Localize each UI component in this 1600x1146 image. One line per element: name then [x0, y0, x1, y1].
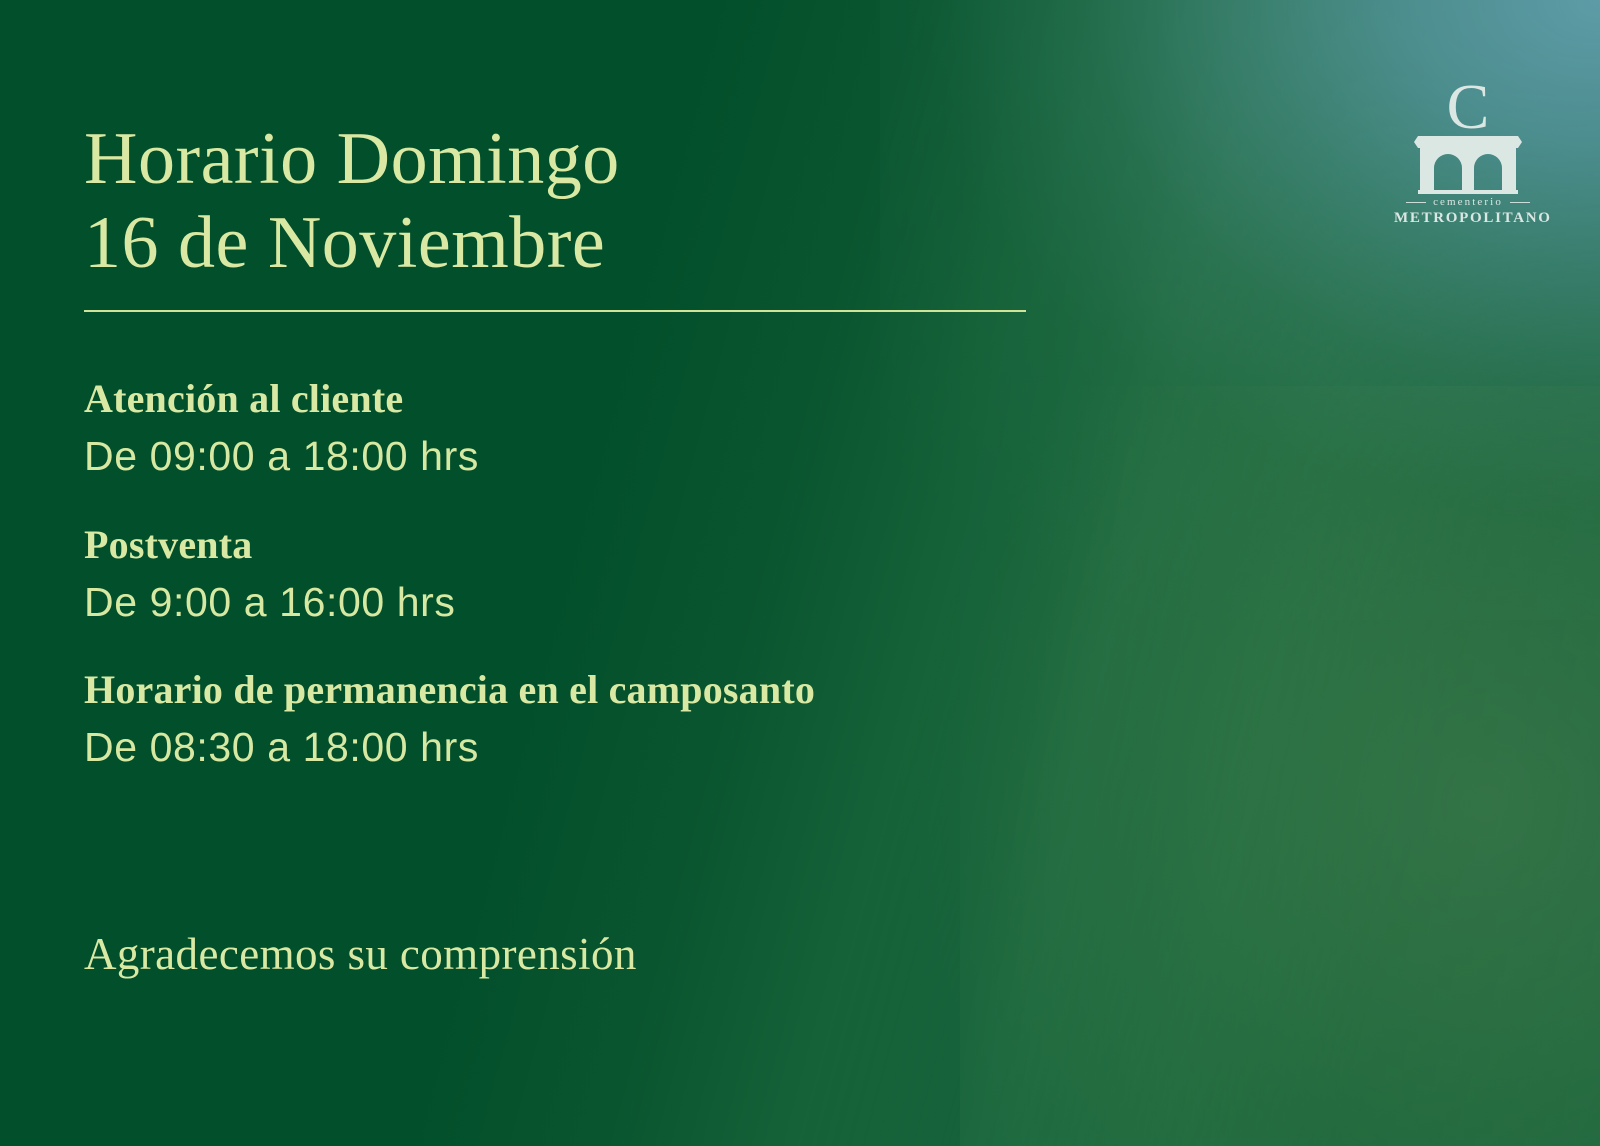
- poster-canvas: C cementerio METROPOLITANO Horario Domin…: [0, 0, 1600, 1146]
- page-title-line-1: Horario Domingo: [84, 118, 620, 200]
- schedule-item-hours: De 9:00 a 16:00 hrs: [84, 578, 1044, 626]
- schedule-item: Horario de permanencia en el camposanto …: [84, 666, 1044, 772]
- logo-word-top: cementerio: [1433, 196, 1503, 208]
- schedule-list: Atención al cliente De 09:00 a 18:00 hrs…: [84, 375, 1044, 772]
- page-title-line-2: 16 de Noviembre: [84, 202, 605, 284]
- schedule-item-hours: De 08:30 a 18:00 hrs: [84, 723, 1044, 771]
- page-title: Horario Domingo16 de Noviembre: [84, 118, 620, 285]
- schedule-item-label: Atención al cliente: [84, 375, 1044, 422]
- logo-rule-right: [1510, 202, 1530, 203]
- schedule-item-label: Horario de permanencia en el camposanto: [84, 666, 1044, 713]
- logo-rule-left: [1406, 202, 1426, 203]
- svg-text:C: C: [1447, 71, 1490, 142]
- brand-logo: C cementerio METROPOLITANO: [1394, 70, 1542, 227]
- content-column: Horario Domingo16 de Noviembre Atención …: [84, 0, 1084, 1146]
- logo-word-top-row: cementerio: [1394, 196, 1542, 208]
- schedule-item: Atención al cliente De 09:00 a 18:00 hrs: [84, 375, 1044, 481]
- closing-message: Agradecemos su comprensión: [84, 928, 637, 980]
- schedule-item: Postventa De 9:00 a 16:00 hrs: [84, 521, 1044, 627]
- schedule-item-hours: De 09:00 a 18:00 hrs: [84, 432, 1044, 480]
- schedule-item-label: Postventa: [84, 521, 1044, 568]
- title-divider: [84, 310, 1026, 312]
- logo-word-bottom: METROPOLITANO: [1394, 210, 1542, 227]
